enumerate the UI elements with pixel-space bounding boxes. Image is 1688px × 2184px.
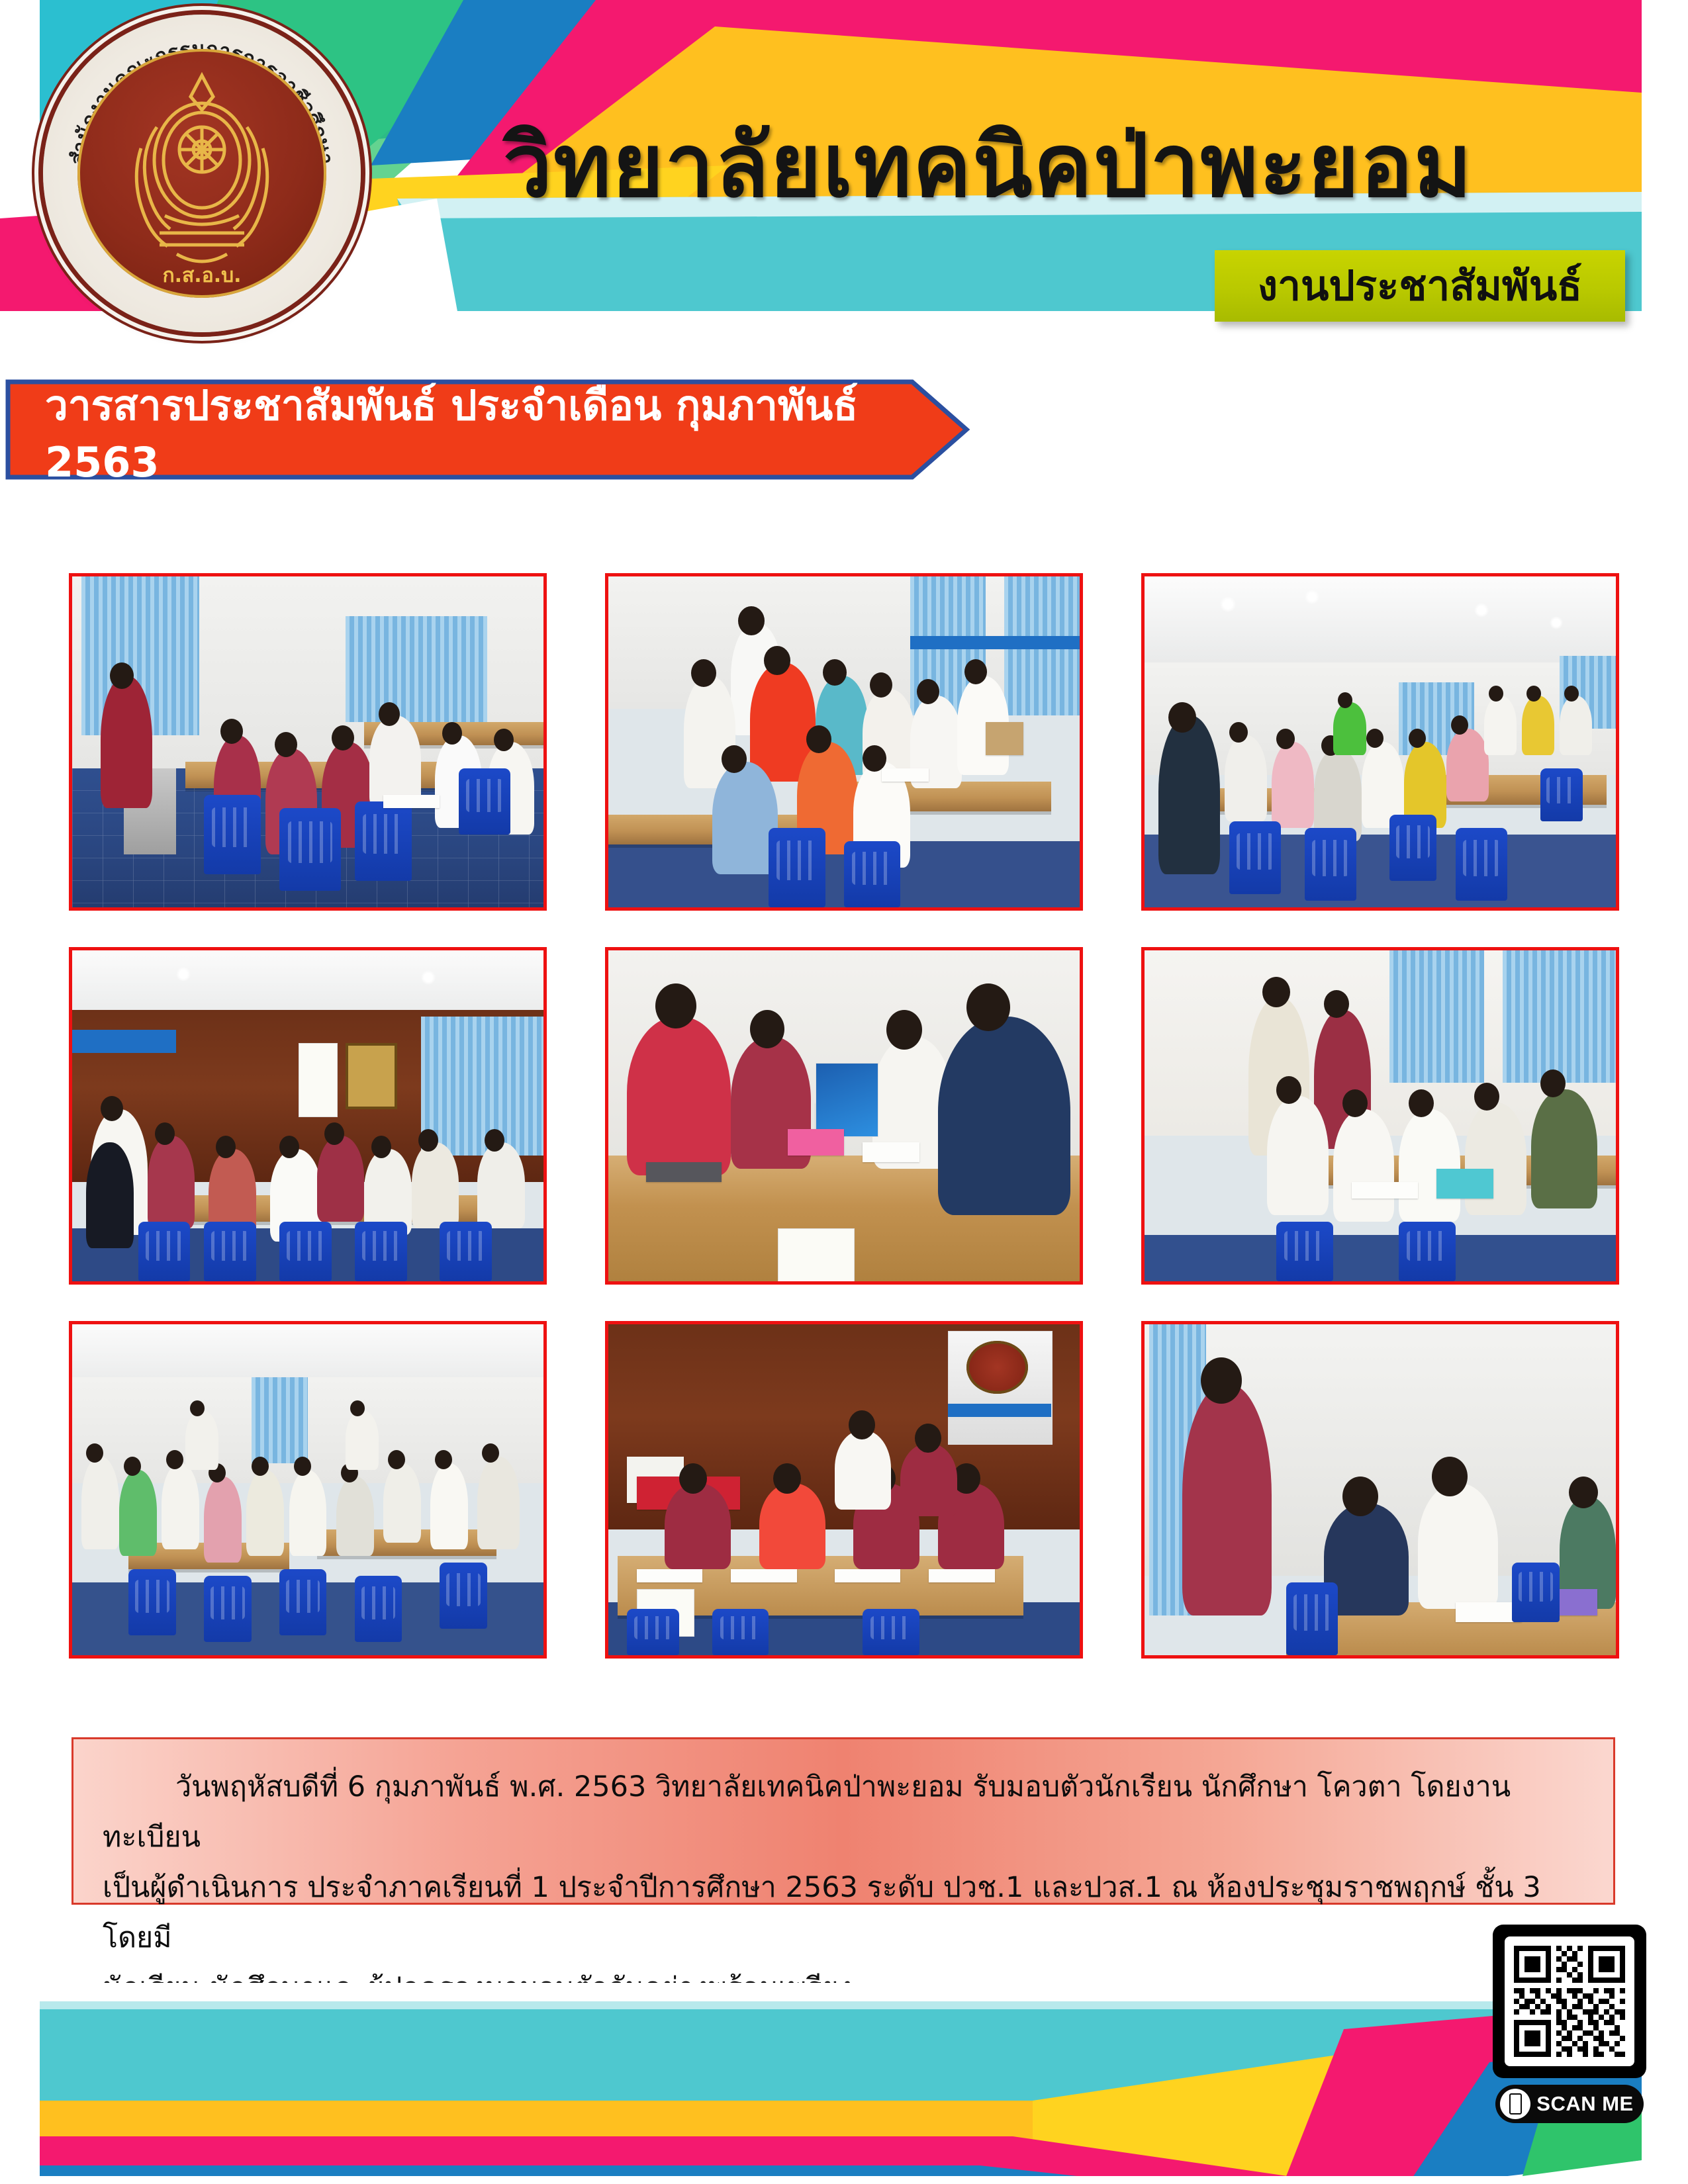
gallery-photo-2[interactable] [605,573,1083,911]
phone-icon [1500,2089,1530,2119]
pr-department-badge: งานประชาสัมพันธ์ [1215,250,1625,322]
qr-code-card [1493,1925,1646,2078]
footer-banner: งานประชาสัมพันธ์ โทร 074-841009 [0,1983,1688,2184]
gallery-photo-6[interactable] [1141,947,1619,1285]
vocational-education-commission-seal: สำนักงานคณะกรรมการการอาชีวศึกษา VOCATION… [43,15,361,332]
header-banner: สำนักงานคณะกรรมการการอาชีวศึกษา VOCATION… [0,0,1688,344]
qr-code-image [1514,1946,1625,2057]
issue-title-arrow-banner: วารสารประชาสัมพันธ์ ประจำเดือน กุมภาพันธ… [5,379,972,480]
gallery-photo-8[interactable] [605,1321,1083,1659]
footer-color-bands [0,1983,1688,2184]
issue-title-text: วารสารประชาสัมพันธ์ ประจำเดือน กุมภาพันธ… [45,379,906,480]
scan-me-pill[interactable]: SCAN ME [1495,2085,1644,2123]
qr-code-block[interactable]: SCAN ME [1493,1925,1646,2130]
gallery-photo-7[interactable] [69,1321,547,1659]
scan-me-label: SCAN ME [1530,2092,1644,2116]
gallery-photo-1[interactable] [69,573,547,911]
article-caption-box: วันพฤหัสบดีที่ 6 กุมภาพันธ์ พ.ศ. 2563 วิ… [71,1737,1615,1905]
gallery-photo-9[interactable] [1141,1321,1619,1659]
photo-gallery-grid [69,573,1619,1659]
caption-line-1: วันพฤหัสบดีที่ 6 กุมภาพันธ์ พ.ศ. 2563 วิ… [103,1762,1584,1862]
seal-center-medallion: ก.ส.อ.บ. [77,49,326,298]
gallery-photo-3[interactable] [1141,573,1619,911]
gallery-photo-5[interactable] [605,947,1083,1285]
pr-department-badge-label: งานประชาสัมพันธ์ [1258,253,1582,318]
college-name-title: วิทยาลัยเทคนิคป่าพะยอม [503,99,1642,232]
gallery-photo-4[interactable] [69,947,547,1285]
caption-line-2: เป็นผู้ดำเนินการ ประจำภาคเรียนที่ 1 ประจ… [103,1862,1584,1963]
seal-abbreviation: ก.ส.อ.บ. [162,264,241,287]
